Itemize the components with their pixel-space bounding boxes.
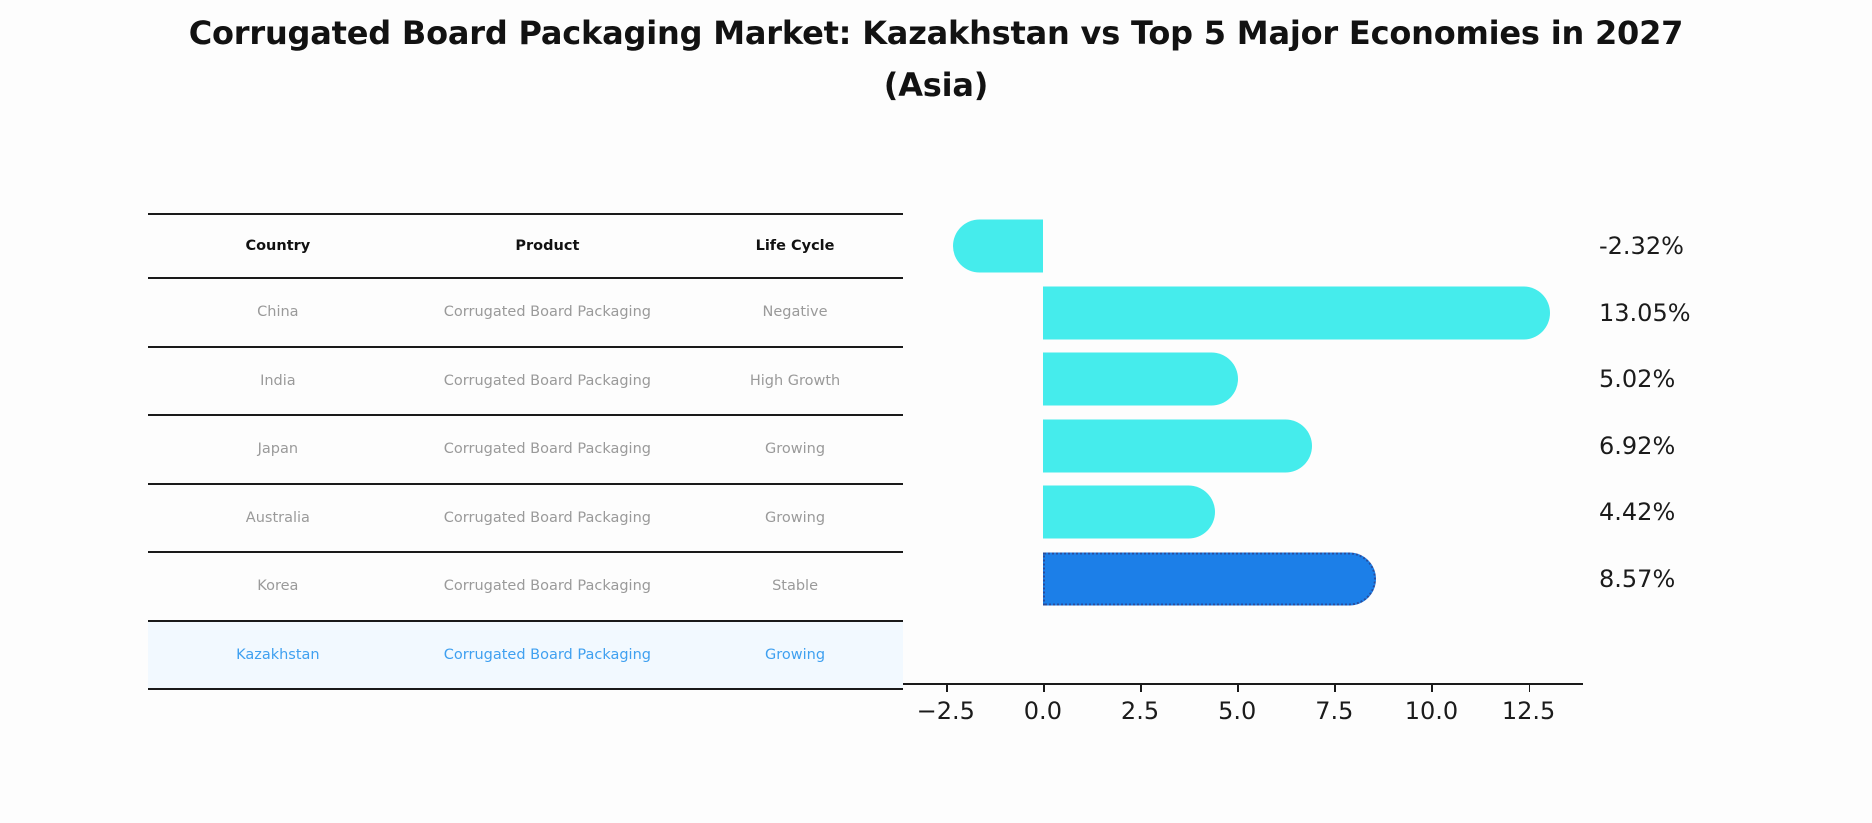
x-axis-tick xyxy=(1529,683,1531,692)
bar-row: 13.05% xyxy=(903,280,1583,347)
table-row: JapanCorrugated Board PackagingGrowing xyxy=(148,415,903,484)
cell-product: Corrugated Board Packaging xyxy=(408,552,687,621)
cell-product: Corrugated Board Packaging xyxy=(408,278,687,347)
cell-life-cycle: Growing xyxy=(687,484,903,553)
bar-value-label: 5.02% xyxy=(1599,365,1675,393)
table-header-row: Country Product Life Cycle xyxy=(148,214,903,278)
x-axis-tick-label: 0.0 xyxy=(1024,697,1062,725)
cell-country: Korea xyxy=(148,552,408,621)
bar-row: 8.57% xyxy=(903,546,1583,613)
x-axis-tick xyxy=(1140,683,1142,692)
title-line-1: Corrugated Board Packaging Market: Kazak… xyxy=(0,8,1872,60)
country-table-panel: Country Product Life Cycle ChinaCorrugat… xyxy=(148,213,903,690)
country-table: Country Product Life Cycle ChinaCorrugat… xyxy=(148,213,903,690)
column-header-product: Product xyxy=(408,214,687,278)
x-axis-tick xyxy=(946,683,948,692)
cell-country: India xyxy=(148,347,408,416)
cell-country: Australia xyxy=(148,484,408,553)
table-row: IndiaCorrugated Board PackagingHigh Grow… xyxy=(148,347,903,416)
bar-chart-panel: -2.32%13.05%5.02%6.92%4.42%8.57% −2.50.0… xyxy=(903,213,1623,703)
cell-product: Corrugated Board Packaging xyxy=(408,621,687,690)
column-header-country: Country xyxy=(148,214,408,278)
bar-highlight[interactable] xyxy=(1043,552,1376,605)
bar[interactable] xyxy=(953,220,1043,273)
x-axis: −2.50.02.55.07.510.012.5 xyxy=(903,683,1583,685)
x-axis-tick xyxy=(1334,683,1336,692)
cell-life-cycle: Growing xyxy=(687,621,903,690)
x-axis-tick xyxy=(1431,683,1433,692)
bar-row: 4.42% xyxy=(903,479,1583,546)
bar-value-label: 13.05% xyxy=(1599,299,1691,327)
cell-life-cycle: Stable xyxy=(687,552,903,621)
bar-value-label: 8.57% xyxy=(1599,565,1675,593)
cell-country: Japan xyxy=(148,415,408,484)
cell-life-cycle: High Growth xyxy=(687,347,903,416)
title-line-2: (Asia) xyxy=(0,60,1872,112)
cell-country: Kazakhstan xyxy=(148,621,408,690)
column-header-life-cycle: Life Cycle xyxy=(687,214,903,278)
bar-value-label: 6.92% xyxy=(1599,432,1675,460)
x-axis-tick-label: 10.0 xyxy=(1405,697,1458,725)
bar-value-label: -2.32% xyxy=(1599,232,1684,260)
x-axis-tick-label: 7.5 xyxy=(1315,697,1353,725)
table-row: KoreaCorrugated Board PackagingStable xyxy=(148,552,903,621)
cell-product: Corrugated Board Packaging xyxy=(408,415,687,484)
page-title: Corrugated Board Packaging Market: Kazak… xyxy=(0,8,1872,112)
bar-value-label: 4.42% xyxy=(1599,498,1675,526)
cell-product: Corrugated Board Packaging xyxy=(408,347,687,416)
bar[interactable] xyxy=(1043,419,1312,472)
table-body: ChinaCorrugated Board PackagingNegativeI… xyxy=(148,278,903,689)
x-axis-tick-label: 12.5 xyxy=(1502,697,1555,725)
bar[interactable] xyxy=(1043,486,1215,539)
bar-row: -2.32% xyxy=(903,213,1583,280)
table-row: KazakhstanCorrugated Board PackagingGrow… xyxy=(148,621,903,690)
cell-life-cycle: Negative xyxy=(687,278,903,347)
x-axis-tick-label: 2.5 xyxy=(1121,697,1159,725)
x-axis-tick xyxy=(1237,683,1239,692)
chart-page: Corrugated Board Packaging Market: Kazak… xyxy=(0,0,1872,823)
cell-country: China xyxy=(148,278,408,347)
table-row: ChinaCorrugated Board PackagingNegative xyxy=(148,278,903,347)
table-row: AustraliaCorrugated Board PackagingGrowi… xyxy=(148,484,903,553)
x-axis-tick-label: −2.5 xyxy=(917,697,975,725)
bar-row: 5.02% xyxy=(903,346,1583,413)
x-axis-tick-label: 5.0 xyxy=(1218,697,1256,725)
cell-product: Corrugated Board Packaging xyxy=(408,484,687,553)
plot-area: -2.32%13.05%5.02%6.92%4.42%8.57% xyxy=(903,213,1583,683)
x-axis-tick xyxy=(1043,683,1045,692)
table-header: Country Product Life Cycle xyxy=(148,214,903,278)
bar[interactable] xyxy=(1043,353,1238,406)
bar-row: 6.92% xyxy=(903,413,1583,480)
cell-life-cycle: Growing xyxy=(687,415,903,484)
bar[interactable] xyxy=(1043,286,1550,339)
